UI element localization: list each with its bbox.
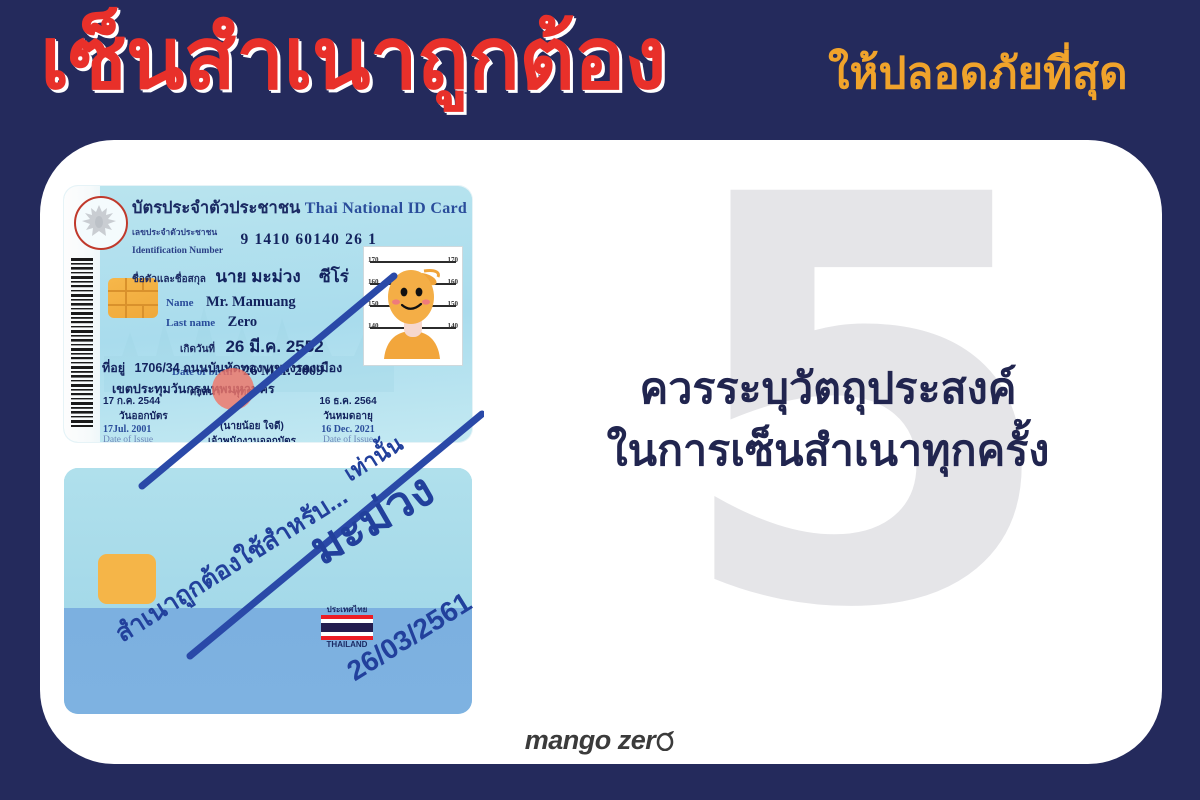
thai-flag-icon bbox=[321, 615, 373, 640]
expiry-label-th: วันหมดอายุ bbox=[304, 409, 392, 424]
garuda-emblem-icon bbox=[74, 196, 128, 250]
id-photo: 170 170 160 160 150 150 140 140 bbox=[363, 246, 463, 366]
address-row-1: ที่อยู่ 1706/34 ถนนบันทัดทอง แขวงรองเมือ… bbox=[102, 358, 402, 378]
page-subtitle: ให้ปลอดภัยที่สุด bbox=[828, 52, 1128, 96]
logo-word-zero: zer bbox=[618, 725, 656, 756]
surname-value-th: ซีโร่ bbox=[319, 267, 349, 286]
expiry-block: 16 ธ.ค. 2564 วันหมดอายุ 16 Dec. 2021 Dat… bbox=[304, 394, 392, 442]
name-value-en: Mr. Mamuang bbox=[206, 294, 296, 310]
issue-date-th: 17 ก.ค. 2544 bbox=[103, 394, 168, 409]
official-seal-stamp bbox=[212, 368, 254, 410]
expiry-label-en: Date of Issue bbox=[304, 435, 392, 442]
card-title-th: บัตรประจำตัวประชาชน bbox=[132, 199, 300, 217]
officer-name: (นายน้อย ใจดี) bbox=[192, 419, 312, 434]
id-number-value: 9 1410 60140 26 1 bbox=[240, 231, 377, 248]
infographic-canvas: เซ็นสำเนาถูกต้อง ให้ปลอดภัยที่สุด 5 ควรร… bbox=[0, 0, 1200, 800]
mango-fruit-icon bbox=[656, 729, 675, 751]
id-card-illustration: บัตรประจำตัวประชาชน Thai National ID Car… bbox=[64, 186, 484, 726]
main-message-line-2: ในการเซ็นสำเนาทุกครั้ง bbox=[508, 420, 1148, 482]
main-message: ควรระบุวัตถุประสงค์ ในการเซ็นสำเนาทุกครั… bbox=[508, 358, 1148, 483]
back-chip-block bbox=[98, 554, 156, 604]
issue-date-en: 17Jul. 2001 bbox=[103, 424, 168, 435]
id-label-en: Identification Number bbox=[132, 246, 223, 256]
name-label-th: ชื่อตัวและชื่อสกุล bbox=[132, 274, 206, 285]
id-card-front: บัตรประจำตัวประชาชน Thai National ID Car… bbox=[64, 186, 472, 442]
header-banner: เซ็นสำเนาถูกต้อง ให้ปลอดภัยที่สุด bbox=[0, 0, 1200, 132]
id-card-back: ประเทศไทย THAILAND bbox=[64, 468, 472, 714]
id-label-th: เลขประจำตัวประชาชน bbox=[132, 227, 217, 237]
mango-zero-logo[interactable]: mango zer bbox=[470, 718, 730, 762]
page-title: เซ็นสำเนาถูกต้อง bbox=[40, 16, 665, 102]
issue-label-th: วันออกบัตร bbox=[119, 409, 168, 424]
issue-date-block: 17 ก.ค. 2544 วันออกบัตร 17Jul. 2001 Date… bbox=[103, 394, 168, 442]
mango-character-avatar bbox=[364, 247, 460, 363]
name-label-en: Name bbox=[166, 297, 194, 309]
address-label-th: ที่อยู่ bbox=[102, 361, 125, 375]
dob-label-th: เกิดวันที่ bbox=[180, 344, 215, 355]
thailand-flag-block: ประเทศไทย THAILAND bbox=[318, 606, 376, 650]
officer-block: (นายน้อย ใจดี) เจ้าพนักงานออกบัตร bbox=[192, 419, 312, 442]
card-back-bottom-section bbox=[64, 608, 472, 714]
issue-label-en: Date of Issue bbox=[103, 435, 168, 442]
barcode-icon bbox=[71, 258, 93, 428]
card-title-row: บัตรประจำตัวประชาชน Thai National ID Car… bbox=[132, 195, 468, 221]
officer-title: เจ้าพนักงานออกบัตร bbox=[192, 434, 312, 442]
country-name-en: THAILAND bbox=[318, 641, 376, 649]
card-title-en: Thai National ID Card bbox=[305, 200, 467, 217]
main-message-line-1: ควรระบุวัตถุประสงค์ bbox=[508, 358, 1148, 420]
country-name-th: ประเทศไทย bbox=[318, 606, 376, 614]
name-value-th: นาย มะม่วง bbox=[215, 267, 300, 286]
expiry-date-th: 16 ธ.ค. 2564 bbox=[304, 394, 392, 409]
lastname-value-en: Zero bbox=[228, 314, 258, 330]
logo-word-mango: mango bbox=[525, 725, 611, 756]
dob-value-th: 26 มี.ค. 2552 bbox=[225, 337, 323, 356]
lastname-label-en: Last name bbox=[166, 317, 215, 329]
expiry-date-en: 16 Dec. 2021 bbox=[304, 424, 392, 435]
